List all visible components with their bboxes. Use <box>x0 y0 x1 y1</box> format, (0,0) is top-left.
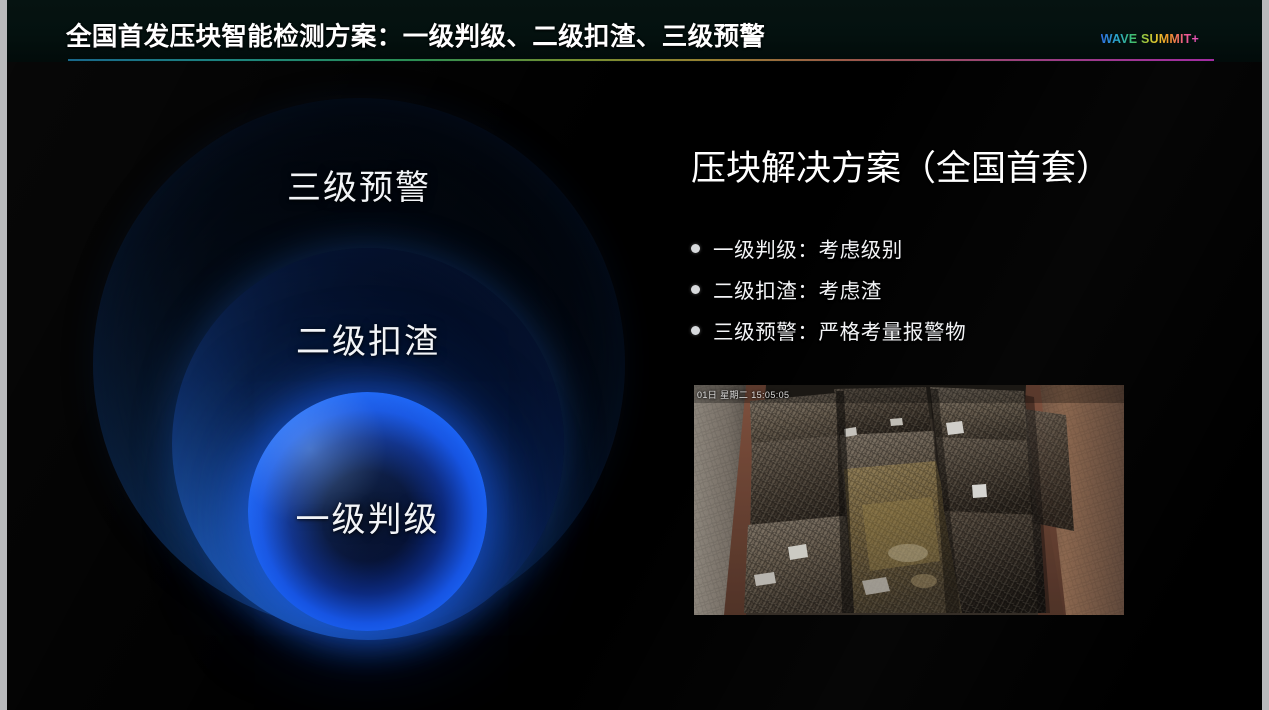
bullet-dot-icon <box>691 326 700 335</box>
page-title: 全国首发压块智能检测方案：一级判级、二级扣渣、三级预警 <box>66 16 765 53</box>
slide-viewer-frame: 全国首发压块智能检测方案：一级判级、二级扣渣、三级预警 WAVE SUMMIT+… <box>0 0 1269 710</box>
list-item: 三级预警：严格考量报警物 <box>691 310 1211 350</box>
list-item-label: 二级扣渣：考虑渣 <box>713 274 882 304</box>
section-title: 压块解决方案（全国首套） <box>691 140 1111 191</box>
list-item: 一级判级：考虑级别 <box>691 228 1211 268</box>
bullet-dot-icon <box>691 285 700 294</box>
photo-timestamp-overlay: 01日 星期二 15:05:05 <box>697 388 789 401</box>
slide-canvas: 全国首发压块智能检测方案：一级判级、二级扣渣、三级预警 WAVE SUMMIT+… <box>7 0 1262 710</box>
concentric-levels-diagram: 三级预警 二级扣渣 一级判级 <box>7 0 707 710</box>
list-item-label: 一级判级：考虑级别 <box>713 233 903 263</box>
ring-inner-one-level-grading <box>248 392 487 631</box>
bullet-dot-icon <box>691 244 700 253</box>
bullet-list: 一级判级：考虑级别 二级扣渣：考虑渣 三级预警：严格考量报警物 <box>691 228 1211 351</box>
list-item: 二级扣渣：考虑渣 <box>691 269 1211 309</box>
cctv-photo: 01日 星期二 15:05:05 <box>694 385 1124 615</box>
list-item-label: 三级预警：严格考量报警物 <box>713 315 966 345</box>
content-column: 压块解决方案（全国首套） 一级判级：考虑级别 二级扣渣：考虑渣 三级预警：严格考… <box>683 0 1243 710</box>
